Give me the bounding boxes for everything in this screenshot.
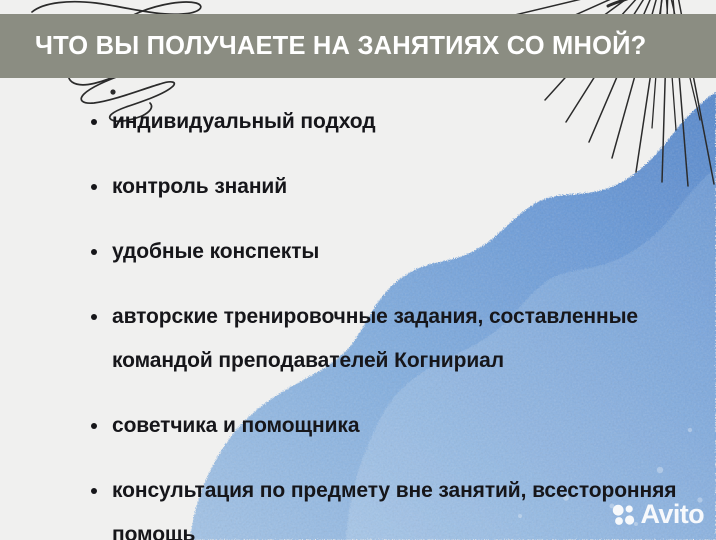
bullet-dot-icon xyxy=(91,184,97,190)
avito-watermark: Avito xyxy=(611,501,705,528)
list-item-label: советчика и помощника xyxy=(112,404,688,448)
avito-wordmark: Avito xyxy=(641,501,705,528)
list-item: контроль знаний xyxy=(88,165,688,209)
avito-dots-logo xyxy=(611,502,636,527)
slide-canvas: ЧТО ВЫ ПОЛУЧАЕТЕ НА ЗАНЯТИЯХ СО МНОЙ? ин… xyxy=(0,0,716,540)
bullet-dot-icon xyxy=(91,423,97,429)
list-item-label: индивидуальный подход xyxy=(112,100,688,144)
bullet-dot-icon xyxy=(91,488,97,494)
list-item-label: удобные конспекты xyxy=(112,230,688,274)
list-item: удобные конспекты xyxy=(88,230,688,274)
benefits-list: индивидуальный подход контроль знаний уд… xyxy=(88,100,688,540)
bullet-dot-icon xyxy=(91,314,97,320)
title-banner: ЧТО ВЫ ПОЛУЧАЕТЕ НА ЗАНЯТИЯХ СО МНОЙ? xyxy=(0,14,716,78)
list-item: советчика и помощника xyxy=(88,404,688,448)
list-item: авторские тренировочные задания, составл… xyxy=(88,295,688,383)
list-item-label: консультация по предмету вне занятий, вс… xyxy=(112,469,688,540)
list-item-label: авторские тренировочные задания, составл… xyxy=(112,295,688,383)
bullet-dot-icon xyxy=(91,249,97,255)
list-item-label: контроль знаний xyxy=(112,165,688,209)
page-title: ЧТО ВЫ ПОЛУЧАЕТЕ НА ЗАНЯТИЯХ СО МНОЙ? xyxy=(35,14,646,78)
list-item: консультация по предмету вне занятий, вс… xyxy=(88,469,688,540)
bullet-dot-icon xyxy=(91,119,97,125)
list-item: индивидуальный подход xyxy=(88,100,688,144)
